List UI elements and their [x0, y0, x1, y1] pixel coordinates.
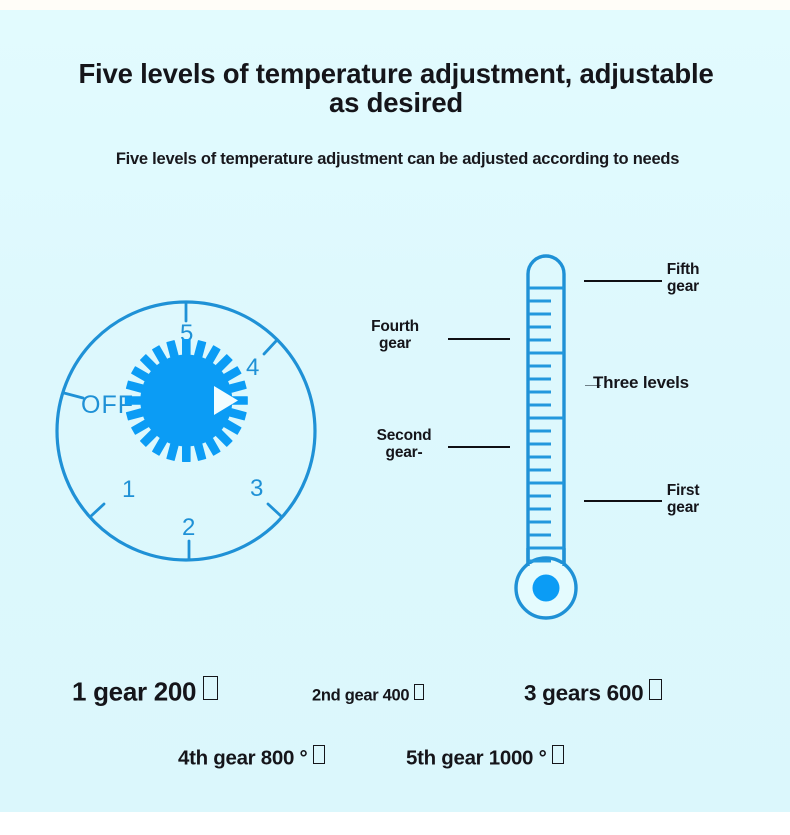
callout-second-gear: Second gear- — [356, 427, 452, 462]
gear-2-text: 2nd gear 400 — [312, 686, 409, 704]
dial-label-2: 2 — [182, 514, 195, 541]
thermometer-graphic — [498, 248, 606, 630]
callout-fifth-gear: Fifth gear — [640, 261, 726, 296]
dial-label-1: 1 — [122, 476, 135, 503]
gear-2-temperature: 2nd gear 400 — [312, 684, 424, 705]
gear-5-text: 5th gear 1000 — [406, 746, 533, 769]
page-title: Five levels of temperature adjustment, a… — [60, 60, 732, 118]
gear-knob-icon[interactable] — [125, 339, 248, 462]
gear-5-temperature: 5th gear 1000 ° — [406, 745, 564, 770]
callout-fourth-gear: Fourth gear — [348, 318, 442, 353]
dial-label-off: OFF — [81, 391, 134, 419]
product-feature-poster: Five levels of temperature adjustment, a… — [0, 0, 790, 835]
gear-4-temperature: 4th gear 800 ° — [178, 745, 325, 770]
bottom-edge-strip — [0, 812, 790, 835]
gear-4-degree: ° — [299, 746, 307, 769]
temperature-control-dial[interactable]: 5 4 3 2 1 OFF — [42, 285, 330, 573]
leader-line-fourth-gear — [448, 338, 510, 340]
callout-three-levels: Three levels — [593, 373, 743, 392]
gear-3-missing-glyph-box — [649, 679, 662, 700]
top-edge-strip — [0, 0, 790, 10]
gear-3-temperature: 3 gears 600 — [524, 679, 662, 706]
callout-first-gear: First gear — [640, 482, 726, 517]
thermometer-bulb-fill — [533, 575, 560, 602]
thermometer-scale — [529, 288, 564, 561]
dial-label-3: 3 — [250, 475, 263, 502]
gear-1-temperature: 1 gear 200 — [72, 676, 218, 708]
gear-2-missing-glyph-box — [414, 684, 424, 700]
gear-3-text: 3 gears 600 — [524, 680, 643, 705]
dial-label-4: 4 — [246, 354, 259, 381]
leader-line-second-gear — [448, 446, 510, 448]
gear-4-text: 4th gear 800 — [178, 746, 294, 769]
gear-4-missing-glyph-box — [313, 745, 325, 764]
gear-5-missing-glyph-box — [552, 745, 564, 764]
gear-1-text: 1 gear 200 — [72, 677, 196, 707]
gear-1-missing-glyph-box — [203, 676, 218, 700]
gear-5-degree: ° — [539, 746, 547, 769]
page-subtitle: Five levels of temperature adjustment ca… — [25, 150, 770, 169]
